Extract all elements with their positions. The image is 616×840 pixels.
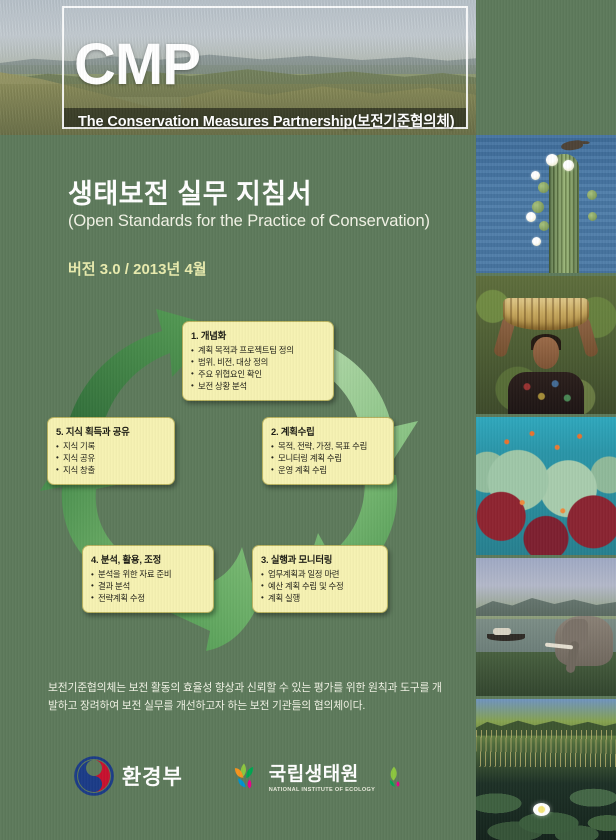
step-1-item: 범위, 비전, 대상 정의 [191,357,325,369]
cactus-ribs [549,154,579,273]
embroidered-blouse [508,372,584,414]
step-3-item: 예산 계획 수립 및 수정 [261,581,379,593]
organization-subtitle: The Conservation Measures Partnership(보전… [78,110,454,131]
step-2-heading: 2. 계획수립 [271,424,385,438]
step-4-items: 분석을 위한 자료 준비 결과 분석 전략계획 수정 [91,569,205,605]
document-cover: CMP The Conservation Measures Partnershi… [0,0,616,840]
step-2-item: 모니터링 계획 수립 [271,453,385,465]
nie-text-block: 국립생태원 NATIONAL INSTITUTE OF ECOLOGY [269,759,375,793]
step-1-items: 계획 목적과 프로젝트팀 정의 범위, 비전, 대상 정의 주요 위협요인 확인… [191,345,325,393]
nie-name-english: NATIONAL INSTITUTE OF ECOLOGY [269,787,375,793]
head [533,337,559,369]
step-4-item: 분석을 위한 자료 준비 [91,569,205,581]
background-hills [476,591,616,616]
cycle-step-box-4[interactable]: 4. 분석, 활용, 조정 분석을 위한 자료 준비 결과 분석 전략계획 수정 [82,545,214,613]
nie-name-korean: 국립생태원 [269,759,375,786]
open-standards-cycle-diagram: 1. 개념화 계획 목적과 프로젝트팀 정의 범위, 비전, 대상 정의 주요 … [30,305,450,665]
step-5-item: 지식 기록 [56,441,166,453]
photo-strip [476,135,616,840]
photo-water-lily-pond [476,699,616,840]
logo-row: 환경부 국립생태원 NATIONAL INSTITUTE OF ECOLOGY [0,748,476,804]
page-title-english: (Open Standards for the Practice of Cons… [68,212,430,231]
taegeuk-icon [74,756,114,796]
description-paragraph: 보전기준협의체는 보전 활동의 효율성 향상과 신뢰할 수 있는 평가를 위한 … [48,680,448,716]
step-1-item: 주요 위협요인 확인 [191,369,325,381]
lily-pads [476,699,616,840]
step-3-item: 계획 실행 [261,593,379,605]
page-title-korean: 생태보전 실무 지침서 [68,172,312,211]
reef-fish [476,417,616,555]
step-4-item: 전략계획 수정 [91,593,205,605]
cactus-bud [538,182,549,193]
cycle-step-box-5[interactable]: 5. 지식 획득과 공유 지식 기록 지식 공유 지식 창출 [47,417,175,485]
woven-basket [503,298,589,330]
cactus-bud [539,221,549,231]
cactus-flower [563,160,574,171]
step-1-item: 계획 목적과 프로젝트팀 정의 [191,345,325,357]
nie-accent-leaf-icon [386,765,402,787]
step-5-item: 지식 창출 [56,465,166,477]
step-3-heading: 3. 실행과 모니터링 [261,552,379,566]
ministry-name: 환경부 [122,761,183,791]
step-5-items: 지식 기록 지식 공유 지식 창출 [56,441,166,477]
cycle-step-box-3[interactable]: 3. 실행과 모니터링 업무계획과 일정 마련 예산 계획 수립 및 수정 계획… [252,545,388,613]
version-label: 버전 3.0 / 2013년 4월 [68,258,207,279]
step-2-item: 목적, 전략, 가정, 목표 수립 [271,441,385,453]
step-1-heading: 1. 개념화 [191,328,325,342]
photo-coral-reef [476,417,616,558]
cactus-bud [587,190,597,200]
ministry-of-environment-logo: 환경부 [74,756,183,796]
step-5-heading: 5. 지식 획득과 공유 [56,424,166,438]
photo-saguaro-cactus [476,135,616,276]
step-2-items: 목적, 전략, 가정, 목표 수립 모니터링 계획 수립 운영 계획 수립 [271,441,385,477]
cycle-step-box-2[interactable]: 2. 계획수립 목적, 전략, 가정, 목표 수립 모니터링 계획 수립 운영 … [262,417,394,485]
canoe-with-people [487,634,525,641]
cmp-wordmark: CMP [74,36,200,94]
step-3-items: 업무계획과 일정 마련 예산 계획 수립 및 수정 계획 실행 [261,569,379,605]
cactus-flower [531,171,540,180]
step-5-item: 지식 공유 [56,453,166,465]
step-4-heading: 4. 분석, 활용, 조정 [91,552,205,566]
nie-leaf-icon [227,759,261,793]
step-4-item: 결과 분석 [91,581,205,593]
photo-woman-with-basket [476,276,616,417]
step-3-item: 업무계획과 일정 마련 [261,569,379,581]
national-institute-of-ecology-logo: 국립생태원 NATIONAL INSTITUTE OF ECOLOGY [227,759,402,793]
step-2-item: 운영 계획 수립 [271,465,385,477]
step-1-item: 보전 상황 분석 [191,381,325,393]
cycle-step-box-1[interactable]: 1. 개념화 계획 목적과 프로젝트팀 정의 범위, 비전, 대상 정의 주요 … [182,321,334,401]
cactus-trunk [549,154,579,273]
photo-elephant-by-river [476,558,616,699]
